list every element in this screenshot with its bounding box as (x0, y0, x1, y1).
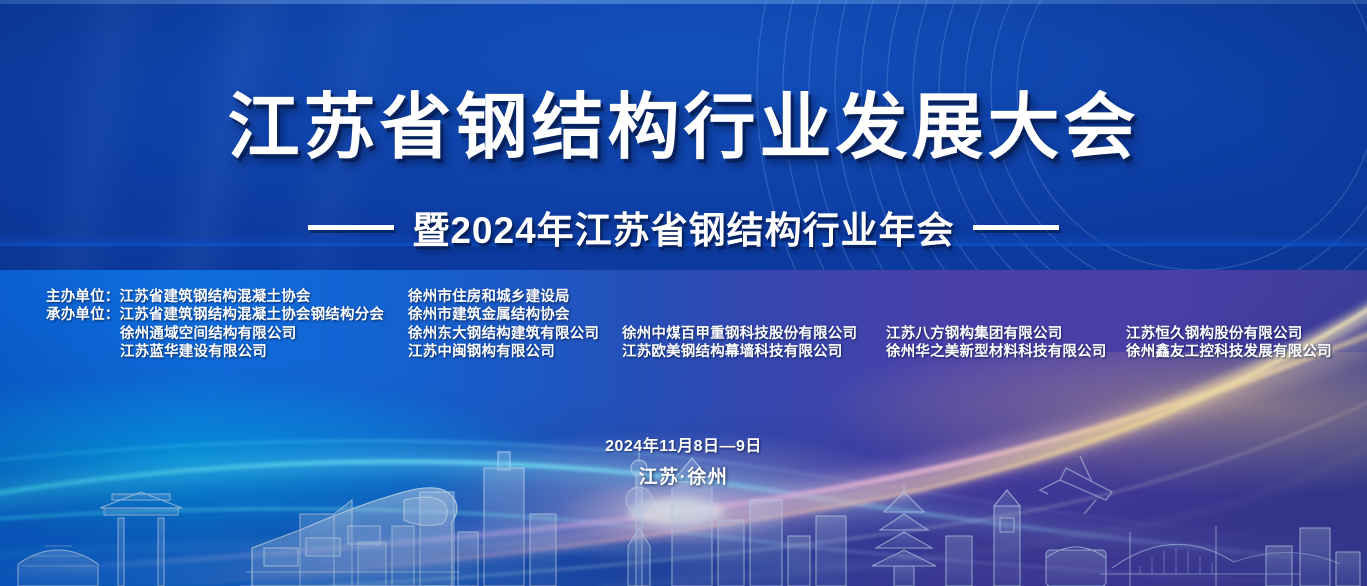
organiser-line: 江苏中闽钢构有限公司 (408, 343, 622, 361)
organisers-columns: 主办单位：江苏省建筑钢结构混凝土协会 承办单位：江苏省建筑钢结构混凝土协会钢结构… (46, 288, 1346, 361)
organiser-line: 徐州市住房和城乡建设局 (408, 288, 622, 306)
organisers-block: 主办单位：江苏省建筑钢结构混凝土协会 承办单位：江苏省建筑钢结构混凝土协会钢结构… (46, 288, 1346, 361)
organiser-line: 主办单位：江苏省建筑钢结构混凝土协会 (46, 288, 408, 306)
organiser-column-5: 江苏恒久钢构股份有限公司 徐州鑫友工控科技发展有限公司 (1126, 288, 1346, 361)
organiser-line: 徐州华之美新型材料科技有限公司 (886, 343, 1126, 361)
rule-left-icon (308, 225, 394, 230)
rule-right-icon (973, 225, 1059, 230)
organiser-column-3: 徐州中煤百甲重钢科技股份有限公司 江苏欧美钢结构幕墙科技有限公司 (622, 288, 886, 361)
organiser-line: 徐州市建筑金属结构协会 (408, 306, 622, 324)
banner-content: 江苏省钢结构行业发展大会 暨2024年江苏省钢结构行业年会 主办单位：江苏省建筑… (0, 0, 1367, 586)
organiser-column-1: 主办单位：江苏省建筑钢结构混凝土协会 承办单位：江苏省建筑钢结构混凝土协会钢结构… (46, 288, 408, 361)
date-place-block: 2024年11月8日—9日 江苏·徐州 (0, 432, 1367, 489)
organiser-line: 江苏欧美钢结构幕墙科技有限公司 (622, 343, 886, 361)
organiser-column-2: 徐州市住房和城乡建设局 徐州市建筑金属结构协会 徐州东大钢结构建筑有限公司 江苏… (408, 288, 622, 361)
organiser-line: 承办单位：江苏省建筑钢结构混凝土协会钢结构分会 (46, 306, 408, 324)
organiser-line: 江苏蓝华建设有限公司 (46, 343, 408, 361)
organiser-line: 徐州东大钢结构建筑有限公司 (408, 325, 622, 343)
event-place: 江苏·徐州 (0, 462, 1367, 489)
page-subtitle: 暨2024年江苏省钢结构行业年会 (412, 200, 954, 254)
organiser-line: 徐州中煤百甲重钢科技股份有限公司 (622, 325, 886, 343)
organiser-line: 江苏恒久钢构股份有限公司 (1126, 325, 1346, 343)
page-title: 江苏省钢结构行业发展大会 (0, 92, 1367, 164)
organiser-line: 徐州通域空间结构有限公司 (46, 325, 408, 343)
event-date: 2024年11月8日—9日 (0, 432, 1367, 456)
conference-banner: 江苏省钢结构行业发展大会 暨2024年江苏省钢结构行业年会 主办单位：江苏省建筑… (0, 0, 1367, 586)
organiser-column-4: 江苏八方钢构集团有限公司 徐州华之美新型材料科技有限公司 (886, 288, 1126, 361)
subtitle-row: 暨2024年江苏省钢结构行业年会 (0, 200, 1367, 254)
organiser-line: 徐州鑫友工控科技发展有限公司 (1126, 343, 1346, 361)
organiser-line: 江苏八方钢构集团有限公司 (886, 325, 1126, 343)
